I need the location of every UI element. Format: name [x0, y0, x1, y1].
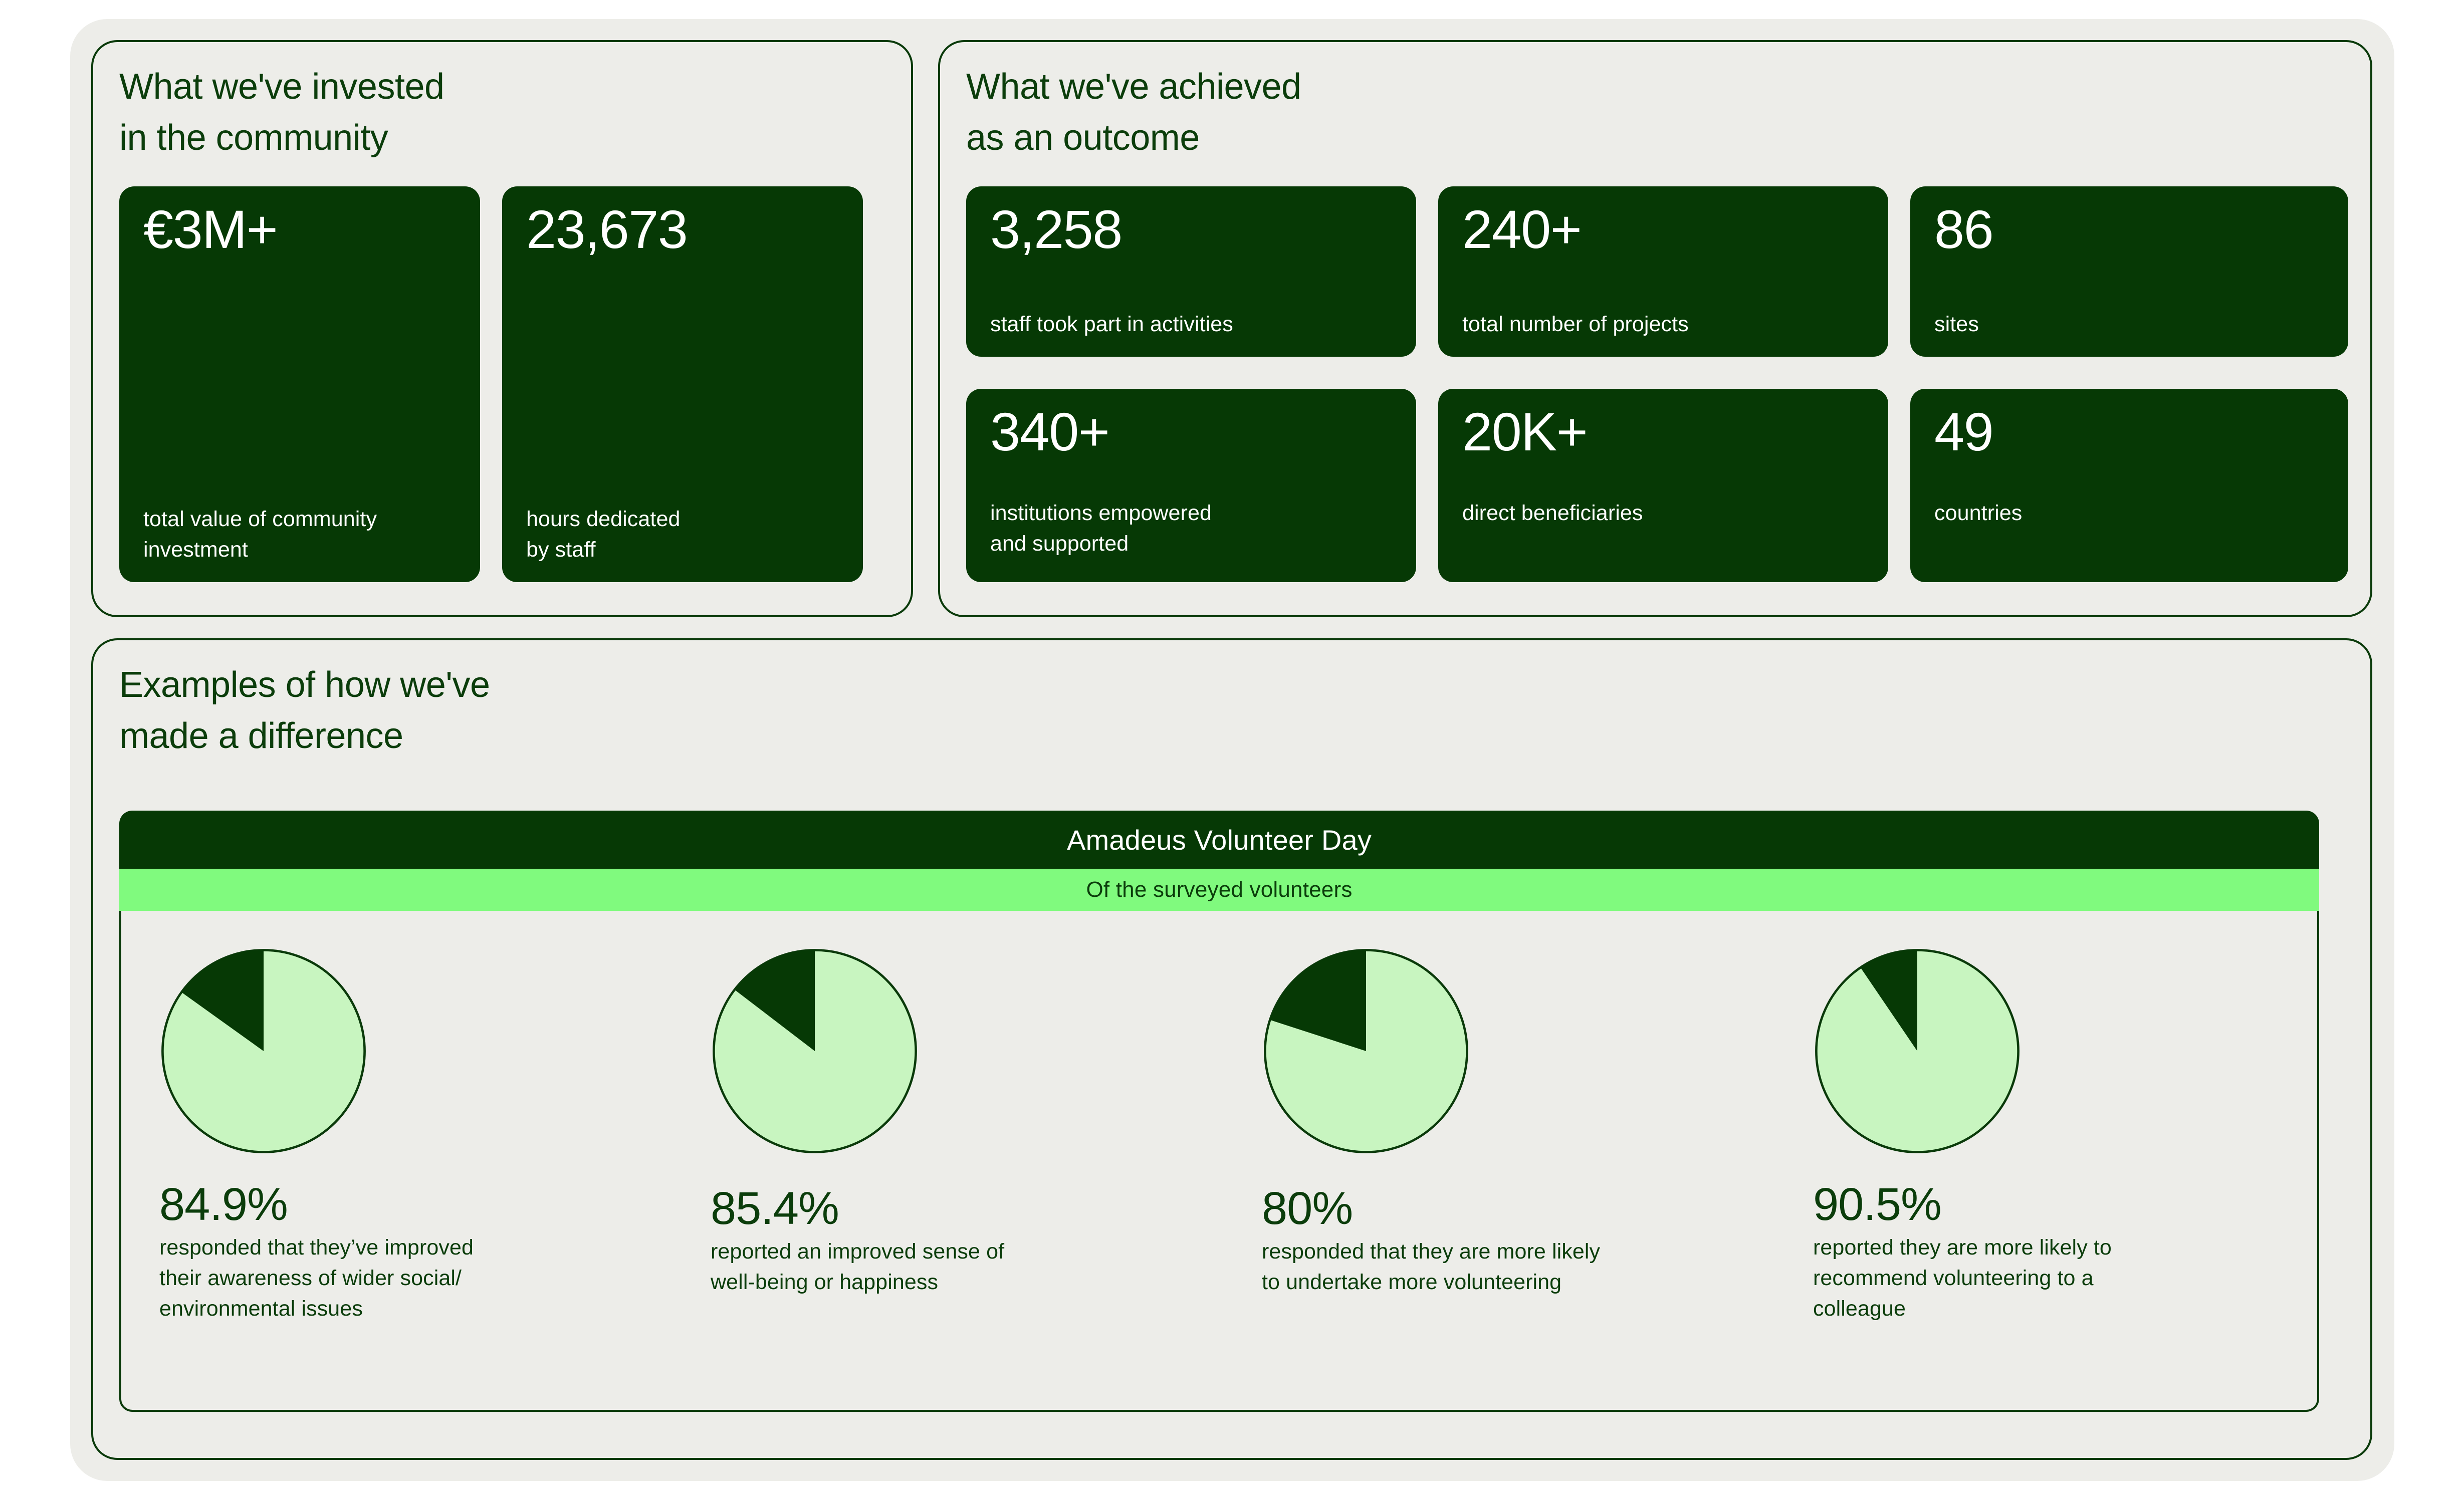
stat-label: direct beneficiaries	[1462, 498, 1643, 529]
pie-description: reported an improved sense of well-being…	[711, 1236, 1217, 1298]
stat-value: 23,673	[526, 195, 687, 263]
stat-label: institutions empowered and supported	[990, 498, 1212, 559]
stat-value: €3M+	[143, 195, 277, 263]
pie-value: 90.5%	[1813, 1181, 1941, 1227]
pie-description: reported they are more likely to recomme…	[1813, 1232, 2294, 1324]
pie-stat-block: 85.4% reported an improved sense of well…	[710, 946, 1251, 1387]
stat-label: countries	[1934, 498, 2022, 529]
stat-label: hours dedicated by staff	[526, 504, 681, 565]
stat-value: 240+	[1462, 195, 1581, 263]
panel-achieved: What we've achieved as an outcome 3,258 …	[938, 40, 2372, 617]
pie-description: responded that they’ve improved their aw…	[159, 1232, 665, 1324]
panel-invested: What we've invested in the community €3M…	[91, 40, 913, 617]
example-card-header-label: Amadeus Volunteer Day	[1067, 824, 1372, 856]
infographic-container: What we've invested in the community €3M…	[70, 19, 2394, 1481]
stat-label: total number of projects	[1462, 309, 1689, 340]
pie-stat-block: 84.9% responded that they’ve improved th…	[158, 946, 700, 1387]
stat-label: staff took part in activities	[990, 309, 1233, 340]
stat-label: sites	[1934, 309, 1979, 340]
stat-card-institutions: 340+ institutions empowered and supporte…	[966, 389, 1416, 582]
stat-value: 3,258	[990, 195, 1122, 263]
panel-examples: Examples of how we've made a difference …	[91, 638, 2372, 1460]
example-card-subheader-label: Of the surveyed volunteers	[1086, 877, 1352, 902]
pie-chart-more-volunteering	[1261, 946, 1471, 1156]
pie-value: 84.9%	[159, 1181, 288, 1227]
stat-card-staff: 3,258 staff took part in activities	[966, 186, 1416, 357]
panel-achieved-title: What we've achieved as an outcome	[966, 61, 1301, 163]
panel-examples-title: Examples of how we've made a difference	[119, 659, 490, 762]
stat-value: 20K+	[1462, 398, 1587, 465]
example-card-subheader: Of the surveyed volunteers	[119, 869, 2319, 911]
pie-chart-awareness	[158, 946, 369, 1156]
stat-value: 340+	[990, 398, 1109, 465]
panel-invested-title: What we've invested in the community	[119, 61, 444, 163]
pie-description: responded that they are more likely to u…	[1262, 1236, 1768, 1298]
stat-card-investment: €3M+ total value of community investment	[119, 186, 480, 582]
stat-card-sites: 86 sites	[1910, 186, 2348, 357]
example-card-header: Amadeus Volunteer Day	[119, 811, 2319, 869]
stat-card-countries: 49 countries	[1910, 389, 2348, 582]
pie-chart-recommend	[1812, 946, 2023, 1156]
pie-value: 85.4%	[711, 1185, 839, 1231]
pie-chart-wellbeing	[710, 946, 920, 1156]
pie-value: 80%	[1262, 1185, 1353, 1231]
stat-card-projects: 240+ total number of projects	[1438, 186, 1888, 357]
stat-value: 49	[1934, 398, 1993, 465]
stat-card-hours: 23,673 hours dedicated by staff	[502, 186, 863, 582]
stat-value: 86	[1934, 195, 1993, 263]
pie-stat-block: 90.5% reported they are more likely to r…	[1812, 946, 2318, 1387]
stat-card-beneficiaries: 20K+ direct beneficiaries	[1438, 389, 1888, 582]
pie-stat-block: 80% responded that they are more likely …	[1261, 946, 1802, 1387]
stat-label: total value of community investment	[143, 504, 377, 565]
